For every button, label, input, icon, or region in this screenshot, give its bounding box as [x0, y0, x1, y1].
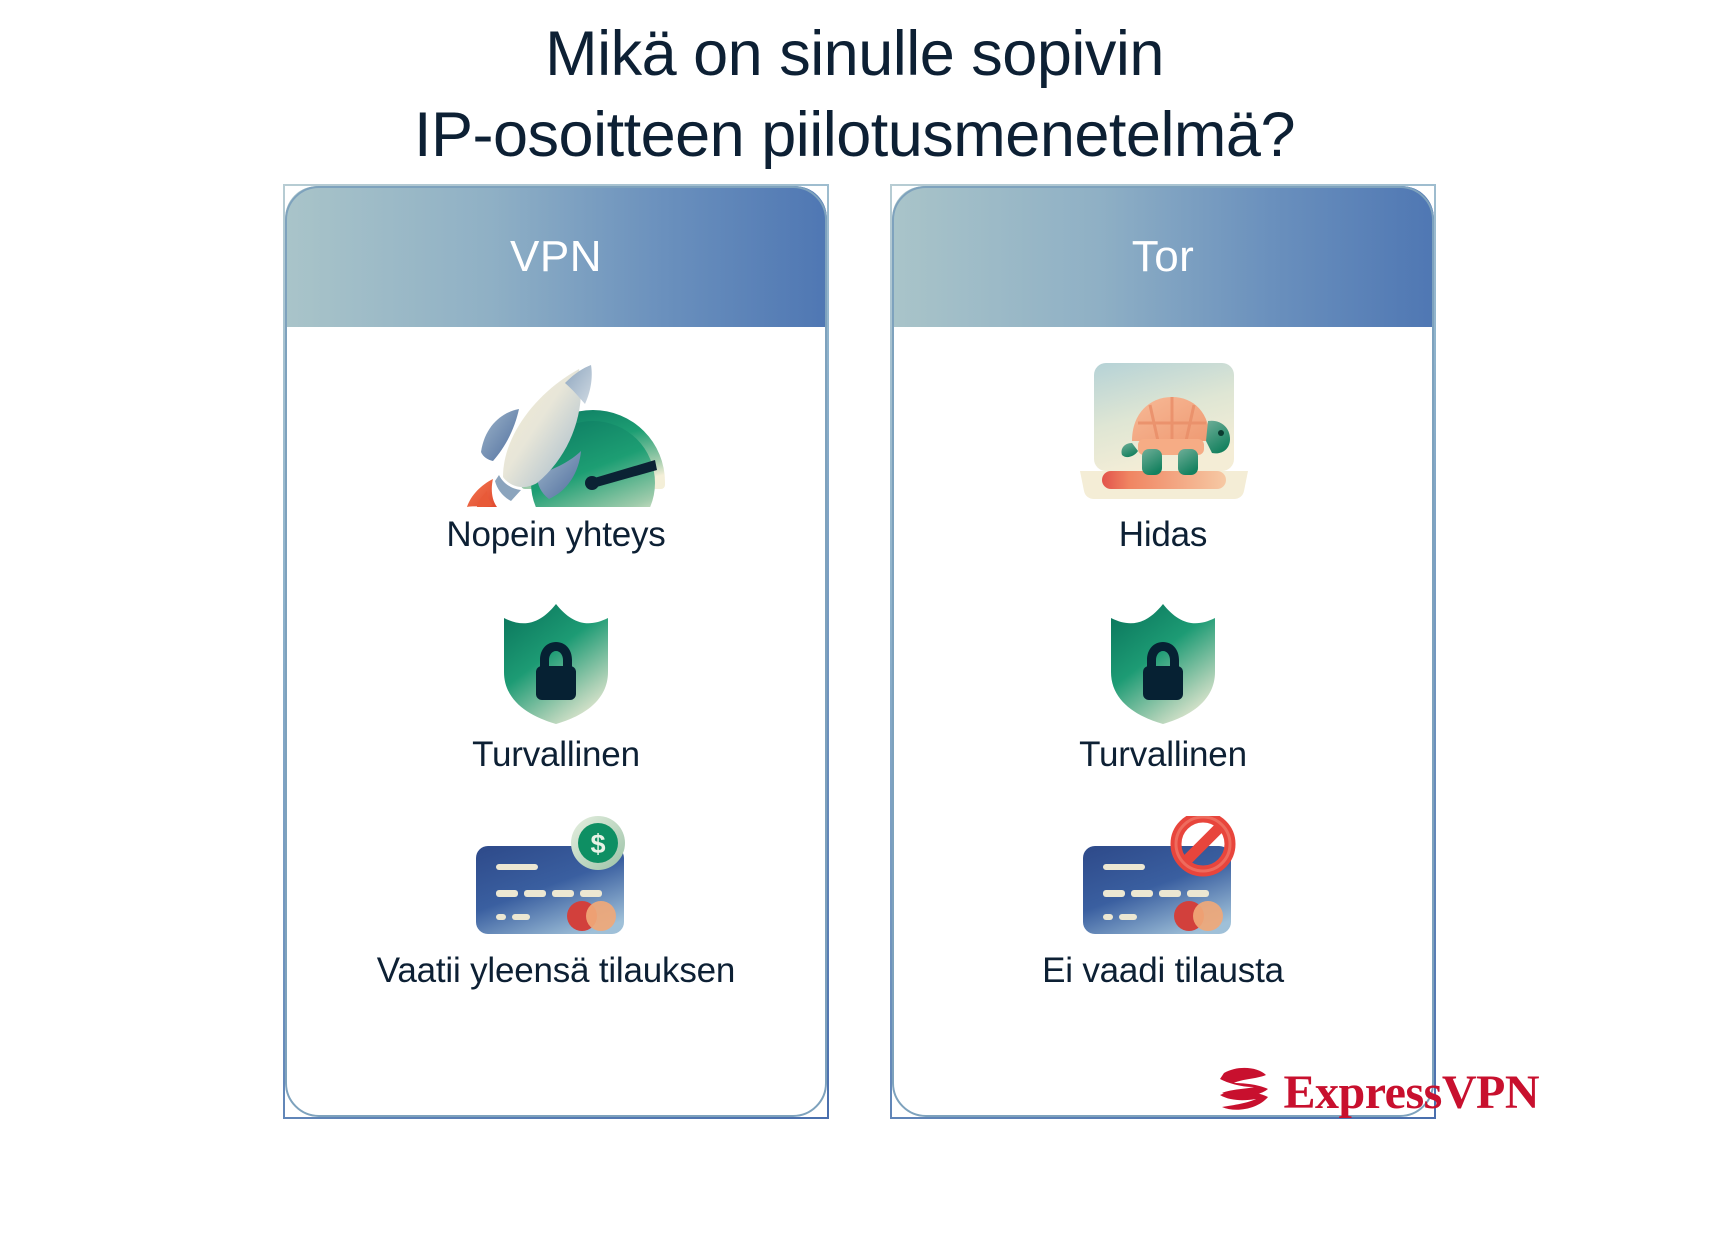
card-body-tor: Hidas [892, 327, 1434, 1119]
rocket-speedometer-icon [285, 357, 827, 507]
card-header-tor: Tor [892, 186, 1434, 327]
feature-label-vpn-subscription: Vaatii yleensä tilauksen [285, 951, 827, 991]
feature-label-tor-speed: Hidas [892, 515, 1434, 555]
card-title-vpn: VPN [510, 232, 602, 282]
page-title-line-1: Mikä on sinulle sopivin [0, 14, 1709, 95]
infographic-page: Mikä on sinulle sopivin IP-osoitteen pii… [0, 0, 1709, 1240]
credit-card-prohibited-icon [892, 813, 1434, 943]
feature-label-tor-subscription: Ei vaadi tilausta [892, 951, 1434, 991]
expressvpn-logo-mark [1212, 1063, 1274, 1122]
card-body-vpn: Nopein yhteys [285, 327, 827, 1119]
expressvpn-logo-text: ExpressVPN [1284, 1065, 1539, 1120]
feature-label-vpn-security: Turvallinen [285, 735, 827, 775]
card-header-vpn: VPN [285, 186, 827, 327]
page-title: Mikä on sinulle sopivin IP-osoitteen pii… [0, 14, 1709, 175]
credit-card-dollar-icon: $ [285, 813, 827, 943]
comparison-card-vpn: VPN [283, 184, 829, 1119]
feature-tor-speed: Hidas [892, 357, 1434, 555]
shield-lock-icon [892, 597, 1434, 727]
svg-text:$: $ [590, 829, 605, 859]
turtle-laptop-icon [892, 357, 1434, 507]
feature-vpn-security: Turvallinen [285, 597, 827, 775]
comparison-card-tor: Tor [890, 184, 1436, 1119]
feature-tor-security: Turvallinen [892, 597, 1434, 775]
feature-vpn-subscription: $ Vaatii yleensä tilauksen [285, 813, 827, 991]
page-title-line-2: IP-osoitteen piilotusmenetelmä? [0, 95, 1709, 176]
expressvpn-logo: ExpressVPN [1212, 1063, 1539, 1122]
feature-vpn-speed: Nopein yhteys [285, 357, 827, 555]
feature-tor-subscription: Ei vaadi tilausta [892, 813, 1434, 991]
card-title-tor: Tor [1132, 232, 1195, 282]
shield-lock-icon [285, 597, 827, 727]
feature-label-tor-security: Turvallinen [892, 735, 1434, 775]
feature-label-vpn-speed: Nopein yhteys [285, 515, 827, 555]
